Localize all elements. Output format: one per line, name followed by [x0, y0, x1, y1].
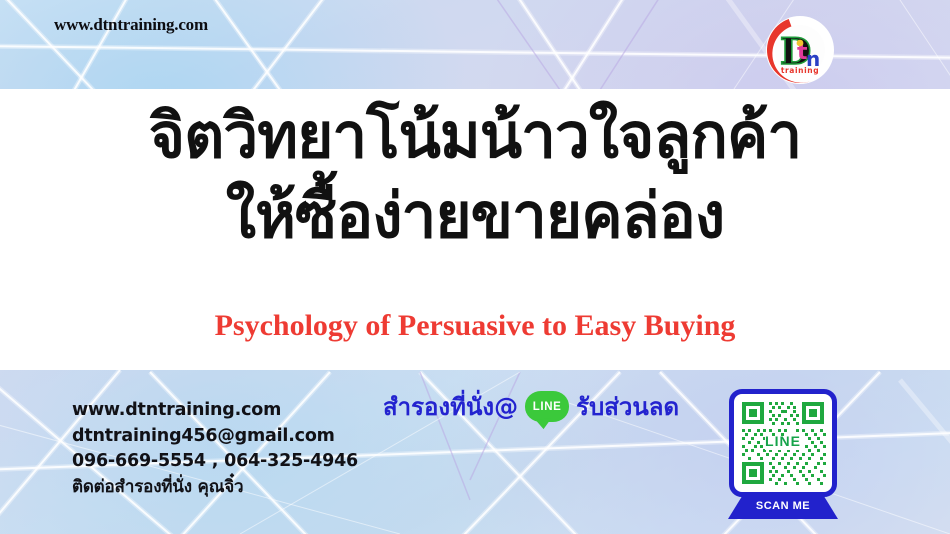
- dtn-logo-icon: D t n training: [764, 14, 836, 86]
- header-website-url: www.dtntraining.com: [54, 15, 208, 35]
- headline-line-2: ให้ซื้อง่ายขายคล่อง: [0, 176, 950, 256]
- headline-english-subtitle: Psychology of Persuasive to Easy Buying: [0, 309, 950, 343]
- cta-text-before: สำรองที่นั่ง@: [383, 387, 518, 426]
- headline-thai: จิตวิทยาโน้มน้าวใจลูกค้า ให้ซื้อง่ายขายค…: [0, 96, 950, 256]
- line-qr-code[interactable]: SCAN ME: [729, 389, 847, 529]
- qr-center-line-label: LINE: [729, 433, 837, 449]
- line-reservation-cta: สำรองที่นั่ง@ LINE รับส่วนลด: [383, 387, 679, 426]
- poster-canvas: www.dtntraining.com D t n training จิตวิ…: [0, 0, 950, 534]
- line-chat-bubble-icon: LINE: [525, 391, 569, 422]
- contact-block: www.dtntraining.com dtntraining456@gmail…: [72, 398, 358, 500]
- headline-line-1: จิตวิทยาโน้มน้าวใจลูกค้า: [0, 96, 950, 176]
- contact-phones: 096-669-5554 , 064-325-4946: [72, 449, 358, 475]
- contact-website: www.dtntraining.com: [72, 398, 358, 424]
- scan-me-label: SCAN ME: [729, 497, 837, 515]
- contact-email: dtntraining456@gmail.com: [72, 424, 358, 450]
- logo-wordmark: training: [781, 66, 819, 75]
- contact-note: ติดต่อสำรองที่นั่ง คุณจิ๋ว: [72, 475, 358, 501]
- dtn-training-logo: D t n training: [764, 14, 836, 86]
- line-bubble-label: LINE: [525, 391, 569, 422]
- cta-text-after: รับส่วนลด: [576, 387, 679, 426]
